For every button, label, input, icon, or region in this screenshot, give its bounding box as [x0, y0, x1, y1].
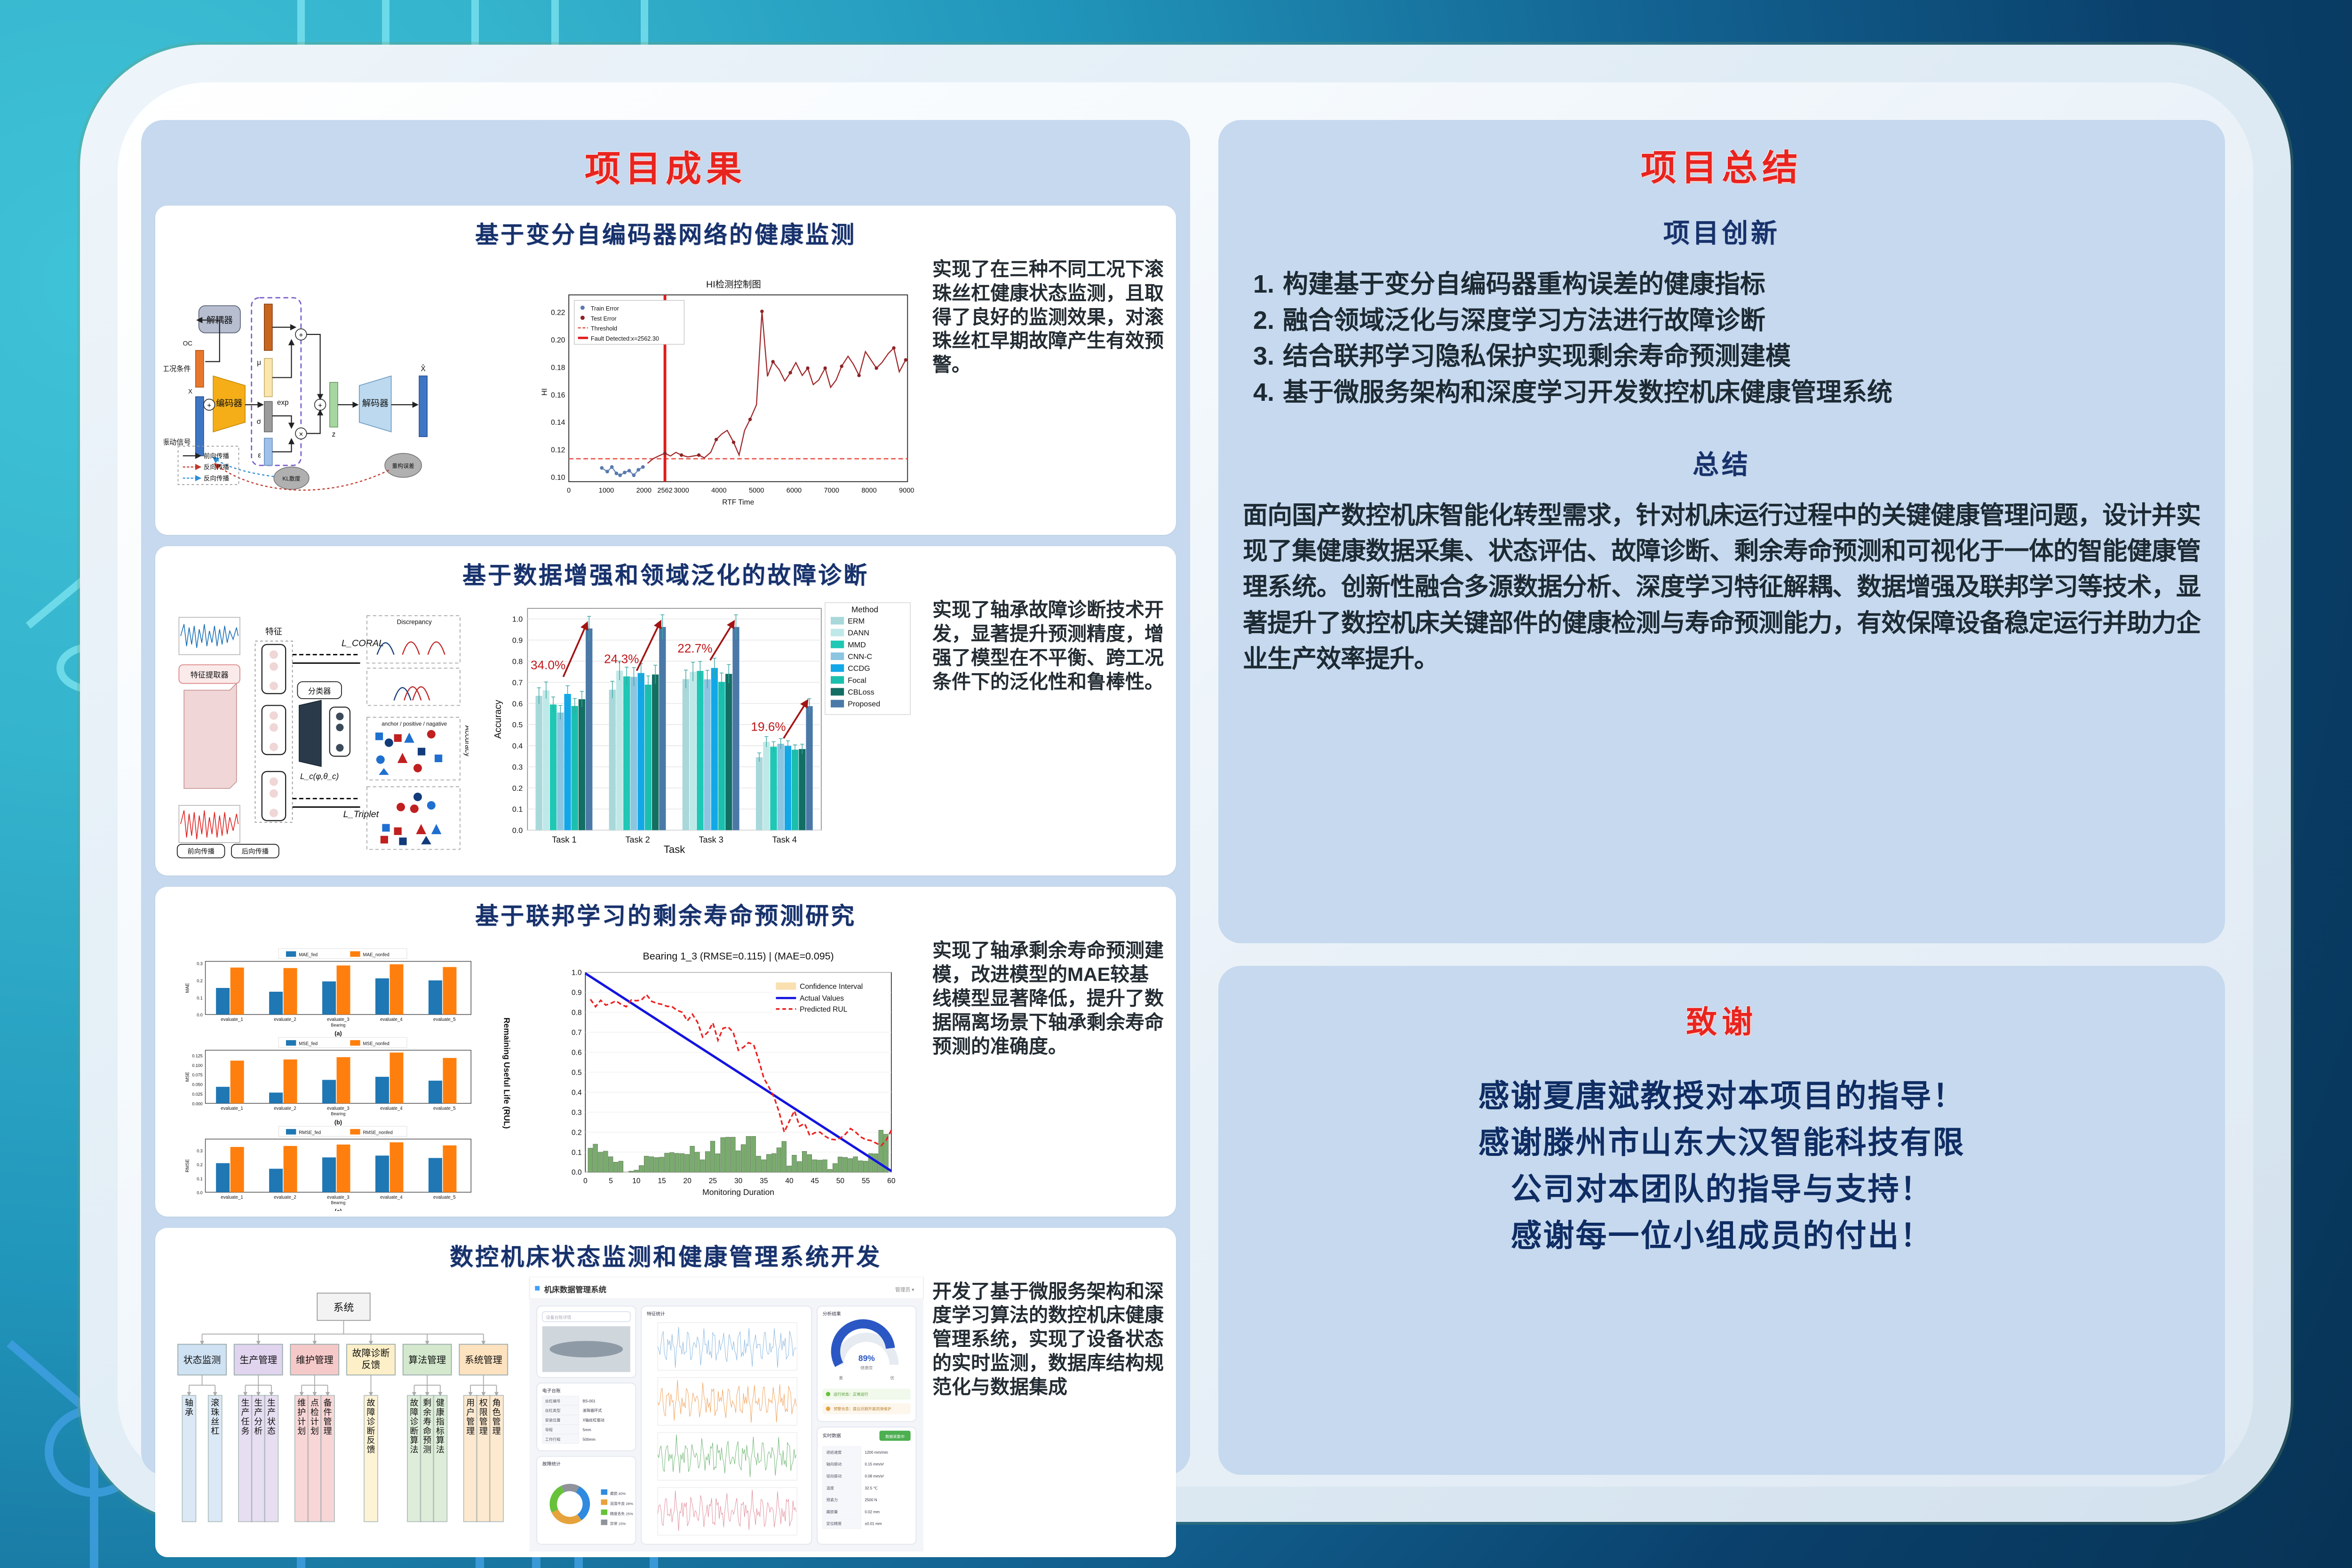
svg-text:安装位置: 安装位置 [545, 1417, 561, 1422]
card-cnc-health-system[interactable]: 数控机床状态监测和健康管理系统开发 系统状态监测轴承滚珠丝杠生产管理生产任务生产… [155, 1228, 1176, 1557]
svg-text:滚珠丝杠: 滚珠丝杠 [211, 1398, 219, 1436]
svg-text:故障诊断反馈: 故障诊断反馈 [366, 1398, 375, 1455]
svg-text:滚珠循环式: 滚珠循环式 [583, 1408, 602, 1413]
svg-text:异常 15%: 异常 15% [610, 1521, 626, 1526]
svg-text:0.125: 0.125 [192, 1054, 202, 1059]
svg-text:0: 0 [567, 487, 571, 494]
svg-text:0.12: 0.12 [551, 446, 565, 454]
svg-text:前向传播: 前向传播 [204, 452, 230, 460]
svg-text:(c): (c) [334, 1208, 342, 1210]
svg-text:μ: μ [257, 358, 261, 366]
svg-text:8000: 8000 [861, 487, 876, 494]
svg-text:0.15 mm/s²: 0.15 mm/s² [865, 1462, 884, 1466]
card-description: 实现了轴承故障诊断技术开发，显著提升预测精度，增强了模型在不平衡、跨工况条件下的… [932, 595, 1168, 870]
svg-text:Remaining Useful Life (RUL): Remaining Useful Life (RUL) [502, 1018, 511, 1129]
svg-text:evaluate_1: evaluate_1 [221, 1195, 243, 1200]
svg-text:+: + [318, 402, 322, 410]
svg-text:分析结果: 分析结果 [823, 1310, 841, 1316]
svg-text:工作行程: 工作行程 [545, 1437, 561, 1441]
svg-text:×: × [299, 430, 303, 438]
svg-text:维护计划: 维护计划 [297, 1398, 306, 1436]
svg-text:0.22: 0.22 [551, 309, 565, 317]
svg-text:anchor / positive / nagative: anchor / positive / nagative [381, 721, 447, 727]
svg-text:设备台账详情: 设备台账详情 [546, 1314, 572, 1320]
svg-text:角色管理: 角色管理 [492, 1398, 501, 1436]
accuracy-bar-chart: 0.00.10.20.30.40.50.60.70.80.91.0Accurac… [474, 595, 926, 870]
svg-text:精度丢失 25%: 精度丢失 25% [610, 1511, 633, 1516]
svg-text:实时数据: 实时数据 [823, 1432, 841, 1438]
svg-text:0: 0 [583, 1177, 588, 1185]
svg-text:Bearing: Bearing [331, 1112, 346, 1116]
vae-architecture-diagram: 解耦器 编码器 解码器 OC [164, 255, 499, 529]
svg-text:7000: 7000 [824, 487, 839, 494]
svg-text:Fault Detected:x=2562.30: Fault Detected:x=2562.30 [591, 335, 659, 342]
svg-text:前向传播: 前向传播 [187, 848, 215, 856]
svg-text:MSE: MSE [185, 1072, 191, 1082]
svg-text:重构误差: 重构误差 [392, 462, 414, 469]
svg-text:Bearing: Bearing [331, 1201, 346, 1205]
svg-text:后向传播: 后向传播 [242, 848, 269, 856]
svg-text:1000: 1000 [599, 487, 614, 494]
svg-text:0.1: 0.1 [197, 996, 202, 1001]
svg-text:evaluate_4: evaluate_4 [380, 1195, 403, 1200]
section-title-thanks: 致谢 [1243, 978, 2201, 1056]
svg-text:exp: exp [277, 398, 289, 406]
svg-text:0.7: 0.7 [512, 679, 523, 687]
fed-vs-nonfed-bar-charts: 0.00.10.20.3MAEevaluate_1evaluate_2evalu… [164, 936, 522, 1210]
svg-text:0.10: 0.10 [551, 474, 565, 482]
svg-text:RMSE_nonfed: RMSE_nonfed [363, 1130, 393, 1136]
card-description: 实现了轴承剩余寿命预测建模，改进模型的MAE较基线模型显著降低，提升了数据隔离场… [932, 936, 1168, 1210]
svg-text:差: 差 [839, 1375, 843, 1380]
svg-text:HI检测控制图: HI检测控制图 [706, 279, 761, 290]
innovation-number: 3. [1253, 338, 1274, 374]
svg-text:15: 15 [658, 1177, 666, 1185]
svg-text:丝杠编号: 丝杠编号 [545, 1398, 561, 1403]
svg-text:维护管理: 维护管理 [296, 1354, 334, 1365]
svg-text:Accuracy: Accuracy [463, 725, 469, 757]
conclusion-text: 面向国产数控机床智能化转型需求，针对机床运行过程中的关键健康管理问题，设计并实现… [1243, 498, 2201, 677]
svg-text:Proposed: Proposed [848, 700, 880, 708]
svg-text:系统: 系统 [334, 1301, 354, 1313]
svg-text:40: 40 [786, 1177, 794, 1185]
svg-text:10: 10 [633, 1177, 641, 1185]
svg-text:2500 N: 2500 N [865, 1498, 877, 1502]
svg-text:磨损 40%: 磨损 40% [610, 1491, 626, 1496]
svg-text:0.6: 0.6 [512, 700, 523, 708]
svg-text:±0.01 mm: ±0.01 mm [865, 1521, 882, 1526]
innovation-text: 结合联邦学习隐私保护实现剩余寿命预测建模 [1283, 338, 1791, 374]
svg-text:Monitoring Duration: Monitoring Duration [703, 1188, 775, 1197]
svg-text:evaluate_4: evaluate_4 [380, 1106, 403, 1111]
card-title: 基于联邦学习的剩余寿命预测研究 [164, 893, 1168, 936]
svg-text:20: 20 [683, 1177, 692, 1185]
svg-text:故障诊断: 故障诊断 [352, 1347, 390, 1358]
svg-text:0.000: 0.000 [192, 1102, 202, 1106]
svg-text:evaluate_2: evaluate_2 [274, 1106, 296, 1111]
svg-text:OC: OC [183, 340, 193, 347]
svg-text:健康度: 健康度 [861, 1365, 873, 1370]
svg-text:Task 3: Task 3 [699, 835, 723, 844]
svg-text:反馈: 反馈 [362, 1360, 381, 1370]
svg-text:HI: HI [540, 388, 548, 396]
conclusion-heading: 总结 [1243, 444, 2201, 482]
svg-text:9000: 9000 [899, 487, 914, 494]
domain-generalization-diagram: 特征提取器 特征 [164, 595, 469, 870]
svg-text:Task 1: Task 1 [552, 835, 576, 844]
svg-text:0.4: 0.4 [512, 742, 523, 750]
innovation-item: 2.融合领域泛化与深度学习方法进行故障诊断 [1253, 302, 2201, 339]
svg-text:0.3: 0.3 [512, 763, 523, 772]
svg-text:生产任务: 生产任务 [241, 1398, 249, 1436]
svg-text:5: 5 [609, 1177, 613, 1185]
svg-text:定位精度: 定位精度 [826, 1521, 842, 1526]
svg-text:+: + [299, 332, 303, 340]
svg-text:权限管理: 权限管理 [479, 1398, 488, 1436]
svg-text:35: 35 [760, 1177, 768, 1185]
svg-text:45: 45 [811, 1177, 819, 1185]
svg-text:进给速度: 进给速度 [826, 1449, 842, 1454]
svg-text:50: 50 [836, 1177, 845, 1185]
svg-text:32.5 ℃: 32.5 ℃ [865, 1486, 878, 1490]
svg-text:系统管理: 系统管理 [465, 1354, 502, 1365]
svg-text:1.0: 1.0 [512, 615, 523, 624]
svg-text:X: X [188, 388, 192, 395]
svg-text:0.8: 0.8 [512, 658, 523, 666]
svg-text:0.050: 0.050 [192, 1082, 202, 1087]
svg-text:健康指标算法: 健康指标算法 [436, 1398, 445, 1455]
svg-text:算法管理: 算法管理 [408, 1354, 446, 1365]
svg-text:0.9: 0.9 [572, 989, 582, 997]
svg-text:0.075: 0.075 [192, 1073, 202, 1078]
section-title-achievements: 项目成果 [155, 133, 1176, 206]
svg-text:RMSE: RMSE [185, 1159, 191, 1173]
card-description: 实现了在三种不同工况下滚珠丝杠健康状态监测，且取得了良好的监测效果，对滚珠丝杠早… [932, 255, 1168, 529]
svg-text:温度: 温度 [826, 1485, 834, 1490]
svg-text:ε: ε [258, 451, 261, 459]
svg-text:MSE_fed: MSE_fed [299, 1042, 318, 1047]
svg-text:evaluate_3: evaluate_3 [327, 1195, 350, 1200]
svg-text:0.1: 0.1 [197, 1177, 202, 1181]
svg-text:0.2: 0.2 [197, 1163, 202, 1168]
svg-text:磨损量: 磨损量 [826, 1509, 838, 1514]
svg-text:1200 mm/min: 1200 mm/min [865, 1450, 888, 1454]
svg-text:0.8: 0.8 [572, 1009, 582, 1017]
svg-text:状态监测: 状态监测 [183, 1354, 221, 1365]
svg-text:89%: 89% [858, 1353, 875, 1363]
svg-text:evaluate_3: evaluate_3 [327, 1106, 350, 1111]
svg-text:(a): (a) [334, 1031, 342, 1037]
svg-text:19.6%: 19.6% [751, 720, 786, 734]
svg-text:L_Triplet: L_Triplet [343, 809, 380, 820]
innovation-text: 构建基于变分自编码器重构误差的健康指标 [1283, 266, 1765, 302]
svg-text:电子台账: 电子台账 [542, 1387, 561, 1393]
svg-text:4000: 4000 [711, 487, 726, 494]
svg-text:轴承: 轴承 [185, 1398, 193, 1417]
card-federated-rul[interactable]: 基于联邦学习的剩余寿命预测研究 0.00.10.20.3MAEevaluate_… [155, 887, 1176, 1216]
svg-text:MAE: MAE [185, 983, 191, 993]
thanks-line-list: 感谢夏唐斌教授对本项目的指导！感谢滕州市山东大汉智能科技有限公司对本团队的指导与… [1243, 1056, 2201, 1259]
project-summary-panel: 项目总结 项目创新 1.构建基于变分自编码器重构误差的健康指标2.融合领域泛化与… [1218, 120, 2225, 943]
svg-text:22.7%: 22.7% [677, 641, 712, 655]
svg-text:0.3: 0.3 [197, 962, 202, 966]
svg-text:34.0%: 34.0% [531, 658, 565, 672]
svg-text:特征提取器: 特征提取器 [191, 671, 229, 679]
innovation-text: 融合领域泛化与深度学习方法进行故障诊断 [1283, 302, 1765, 339]
svg-text:0.6: 0.6 [572, 1049, 582, 1057]
svg-text:0.5: 0.5 [512, 721, 523, 729]
svg-text:0.9: 0.9 [512, 637, 523, 645]
card-description: 开发了基于微服务架构和深度学习算法的数控机床健康管理系统，实现了设备状态的实时监… [932, 1277, 1168, 1552]
svg-text:evaluate_3: evaluate_3 [327, 1018, 350, 1023]
svg-text:MAE_fed: MAE_fed [299, 953, 318, 958]
svg-text:运行状态：正常运行: 运行状态：正常运行 [834, 1392, 868, 1396]
svg-text:Actual Values: Actual Values [800, 995, 844, 1003]
svg-text:CBLoss: CBLoss [848, 688, 874, 697]
hi-control-chart: HI检测控制图 0.220.20 0.180.16 0.140.12 0.10 [505, 255, 926, 529]
innovation-list: 1.构建基于变分自编码器重构误差的健康指标2.融合领域泛化与深度学习方法进行故障… [1243, 266, 2201, 411]
svg-text:24.3%: 24.3% [604, 652, 639, 666]
svg-text:5000: 5000 [749, 487, 764, 494]
svg-text:优: 优 [890, 1375, 895, 1380]
svg-text:反向传播: 反向传播 [204, 464, 230, 471]
svg-text:润滑不良 28%: 润滑不良 28% [610, 1501, 633, 1505]
svg-text:3000: 3000 [674, 487, 689, 494]
svg-text:0.16: 0.16 [551, 391, 565, 399]
svg-text:55: 55 [862, 1177, 870, 1185]
svg-text:0.1: 0.1 [572, 1149, 582, 1157]
svg-text:预紧力: 预紧力 [826, 1497, 838, 1502]
svg-text:0.02 mm: 0.02 mm [865, 1510, 880, 1514]
card-title: 基于数据增强和领域泛化的故障诊断 [164, 553, 1168, 595]
svg-text:KL散度: KL散度 [282, 475, 300, 482]
svg-text:2000: 2000 [636, 487, 651, 494]
svg-text:备件管理: 备件管理 [324, 1398, 332, 1436]
svg-text:evaluate_5: evaluate_5 [433, 1106, 456, 1111]
svg-text:解码器: 解码器 [362, 398, 389, 408]
card-fault-diagnosis[interactable]: 基于数据增强和领域泛化的故障诊断 [155, 546, 1176, 876]
svg-text:RMSE_fed: RMSE_fed [299, 1130, 321, 1136]
svg-text:σ: σ [257, 418, 262, 426]
card-title: 基于变分自编码器网络的健康监测 [164, 212, 1168, 255]
svg-text:evaluate_5: evaluate_5 [433, 1195, 456, 1200]
svg-text:MSE_nonfed: MSE_nonfed [363, 1042, 389, 1047]
svg-text:特征统计: 特征统计 [647, 1310, 665, 1316]
svg-text:Test Error: Test Error [591, 315, 617, 322]
svg-text:evaluate_1: evaluate_1 [221, 1106, 243, 1111]
svg-text:0.20: 0.20 [551, 336, 565, 344]
svg-text:2562: 2562 [657, 487, 672, 494]
svg-text:30: 30 [734, 1177, 743, 1185]
svg-text:CNN-C: CNN-C [848, 653, 872, 661]
thanks-line: 感谢夏唐斌教授对本项目的指导！ [1243, 1073, 2201, 1120]
svg-text:0.4: 0.4 [572, 1089, 582, 1097]
svg-text:L_c(φ,θ_c): L_c(φ,θ_c) [300, 772, 339, 781]
svg-text:CCDG: CCDG [848, 664, 870, 673]
svg-text:1.0: 1.0 [572, 969, 582, 977]
svg-text:60: 60 [888, 1177, 896, 1185]
svg-text:(b): (b) [334, 1120, 342, 1126]
svg-text:0.1: 0.1 [512, 805, 523, 814]
card-vae-health-monitoring[interactable]: 基于变分自编码器网络的健康监测 解耦器 [155, 206, 1176, 535]
svg-text:evaluate_5: evaluate_5 [433, 1018, 456, 1023]
svg-text:Confidence Interval: Confidence Interval [800, 983, 863, 991]
svg-text:MAE_nonfed: MAE_nonfed [363, 953, 389, 958]
svg-text:0.025: 0.025 [192, 1092, 202, 1097]
svg-text:故障诊断算法: 故障诊断算法 [410, 1398, 418, 1455]
svg-text:0.0: 0.0 [197, 1191, 202, 1195]
svg-text:Task 2: Task 2 [625, 835, 650, 844]
svg-text:0.18: 0.18 [551, 364, 565, 372]
thanks-line: 感谢每一位小组成员的付出！ [1243, 1213, 2201, 1259]
left-column: 项目成果 基于变分自编码器网络的健康监测 [141, 120, 1190, 1475]
svg-text:25: 25 [709, 1177, 717, 1185]
svg-text:特征: 特征 [265, 627, 282, 637]
svg-text:生产管理: 生产管理 [239, 1354, 277, 1365]
system-module-tree: 系统状态监测轴承滚珠丝杠生产管理生产任务生产分析生产状态维护管理维护计划点检计划… [164, 1277, 522, 1552]
svg-text:evaluate_1: evaluate_1 [221, 1018, 243, 1023]
svg-text:z: z [332, 430, 336, 438]
innovation-text: 基于微服务架构和深度学习开发数控机床健康管理系统 [1283, 374, 1892, 411]
svg-text:evaluate_4: evaluate_4 [380, 1018, 403, 1023]
svg-text:RTF Time: RTF Time [722, 498, 754, 506]
svg-text:0.14: 0.14 [551, 419, 565, 427]
card-title: 数控机床状态监测和健康管理系统开发 [164, 1234, 1168, 1277]
svg-text:振动信号: 振动信号 [164, 438, 191, 446]
svg-text:0.100: 0.100 [192, 1063, 202, 1068]
svg-text:6000: 6000 [787, 487, 802, 494]
svg-text:0.5: 0.5 [572, 1069, 582, 1077]
svg-text:工况条件: 工况条件 [164, 365, 191, 373]
svg-text:0.08 mm/s²: 0.08 mm/s² [865, 1474, 884, 1478]
section-title-summary: 项目总结 [1243, 132, 2201, 205]
svg-text:0.0: 0.0 [512, 827, 523, 835]
svg-text:丝杠类型: 丝杠类型 [545, 1408, 561, 1413]
svg-text:ERM: ERM [848, 617, 865, 626]
svg-text:剩余寿命预测: 剩余寿命预测 [423, 1398, 431, 1455]
svg-text:BS-001: BS-001 [583, 1399, 596, 1403]
svg-text:X̂: X̂ [421, 365, 425, 373]
svg-text:Train Error: Train Error [591, 305, 619, 312]
innovation-number: 4. [1253, 374, 1274, 411]
thanks-line: 感谢滕州市山东大汉智能科技有限 [1243, 1120, 2201, 1166]
svg-text:0.2: 0.2 [197, 979, 202, 983]
thanks-line: 公司对本团队的指导与支持！ [1243, 1166, 2201, 1213]
svg-text:故障统计: 故障统计 [542, 1461, 561, 1467]
svg-text:Task: Task [664, 844, 685, 855]
svg-text:轴向振动: 轴向振动 [826, 1462, 842, 1466]
svg-text:evaluate_2: evaluate_2 [274, 1195, 296, 1200]
svg-text:生产状态: 生产状态 [267, 1398, 276, 1436]
svg-text:分类器: 分类器 [308, 687, 331, 696]
svg-text:0.7: 0.7 [572, 1029, 582, 1037]
svg-text:点检计划: 点检计划 [310, 1398, 319, 1436]
svg-text:预警信息：建议近期开展润滑维护: 预警信息：建议近期开展润滑维护 [834, 1406, 891, 1411]
svg-text:500mm: 500mm [583, 1437, 596, 1441]
innovation-item: 3.结合联邦学习隐私保护实现剩余寿命预测建模 [1253, 338, 2201, 374]
svg-text:0.3: 0.3 [572, 1109, 582, 1117]
achievements-panel: 项目成果 基于变分自编码器网络的健康监测 [141, 120, 1190, 1475]
svg-text:evaluate_2: evaluate_2 [274, 1018, 296, 1023]
rul-prediction-chart: Bearing 1_3 (RMSE=0.115) | (MAE=0.095)0.… [527, 936, 926, 1210]
svg-text:0.0: 0.0 [572, 1169, 582, 1177]
svg-text:Focal: Focal [848, 677, 866, 685]
svg-text:机床数据管理系统: 机床数据管理系统 [544, 1285, 607, 1294]
innovation-item: 4.基于微服务架构和深度学习开发数控机床健康管理系统 [1253, 374, 2201, 411]
dashboard-screenshot: 机床数据管理系统管理员 ▾设备台账详情电子台账丝杠编号BS-001丝杠类型滚珠循… [527, 1277, 926, 1552]
svg-text:用户管理: 用户管理 [466, 1398, 475, 1436]
svg-text:+: + [207, 402, 211, 410]
svg-text:0.3: 0.3 [197, 1149, 202, 1154]
svg-text:5mm: 5mm [583, 1428, 591, 1432]
svg-text:管理员 ▾: 管理员 ▾ [895, 1287, 914, 1293]
acknowledgement-panel: 致谢 感谢夏唐斌教授对本项目的指导！感谢滕州市山东大汉智能科技有限公司对本团队的… [1218, 966, 2225, 1475]
svg-text:Accuracy: Accuracy [493, 700, 503, 739]
svg-text:L_CORAL: L_CORAL [342, 638, 384, 649]
svg-text:0.2: 0.2 [512, 784, 523, 793]
svg-text:数据采集中: 数据采集中 [886, 1434, 905, 1439]
right-column: 项目总结 项目创新 1.构建基于变分自编码器重构误差的健康指标2.融合领域泛化与… [1218, 120, 2225, 1475]
innovation-number: 2. [1253, 302, 1274, 339]
svg-text:反向传播: 反向传播 [204, 475, 230, 482]
svg-text:Bearing 1_3 (RMSE=0.115) | (MA: Bearing 1_3 (RMSE=0.115) | (MAE=0.095) [643, 951, 834, 962]
innovation-heading: 项目创新 [1243, 212, 2201, 250]
svg-text:0.0: 0.0 [197, 1013, 202, 1018]
svg-text:Task 4: Task 4 [772, 835, 797, 844]
svg-text:Threshold: Threshold [591, 326, 617, 332]
innovation-number: 1. [1253, 266, 1274, 302]
svg-text:0.2: 0.2 [572, 1129, 582, 1137]
svg-text:Method: Method [851, 605, 878, 614]
svg-text:X轴丝杠驱动: X轴丝杠驱动 [583, 1417, 604, 1422]
svg-text:DANN: DANN [848, 629, 869, 637]
svg-text:导程: 导程 [545, 1428, 553, 1432]
svg-text:编码器: 编码器 [216, 398, 242, 408]
svg-text:Predicted RUL: Predicted RUL [800, 1006, 848, 1014]
svg-text:MMD: MMD [848, 641, 866, 649]
svg-text:Discrepancy: Discrepancy [397, 619, 432, 626]
svg-text:Bearing: Bearing [331, 1023, 346, 1027]
svg-text:径向振动: 径向振动 [826, 1473, 842, 1478]
achievement-card-list: 基于变分自编码器网络的健康监测 解耦器 [155, 206, 1176, 1557]
svg-text:生产分析: 生产分析 [254, 1398, 262, 1436]
innovation-item: 1.构建基于变分自编码器重构误差的健康指标 [1253, 266, 2201, 302]
